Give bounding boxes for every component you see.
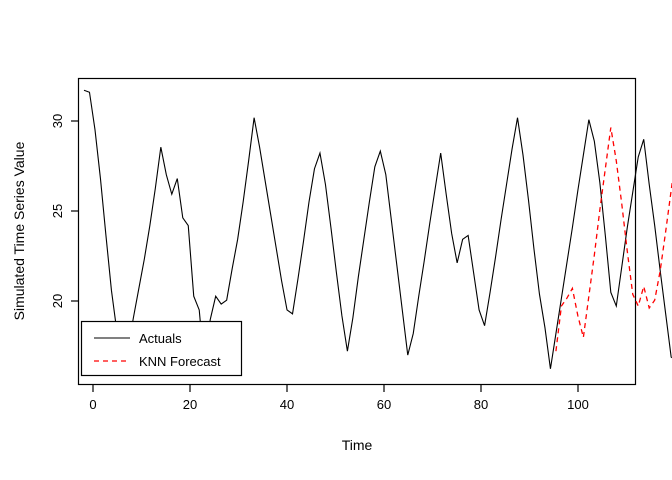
x-tick-label-20: 20 [183,397,197,412]
chart-screenshot: 20 25 30 0 20 40 60 80 100 Time Simulate… [0,0,672,480]
x-tick-label-40: 40 [280,397,294,412]
y-axis-title: Simulated Time Series Value [11,141,27,320]
x-tick-label-100: 100 [567,397,589,412]
y-tick-label-25: 25 [50,204,65,218]
x-axis-title: Time [342,437,373,453]
x-tick-label-0: 0 [89,397,96,412]
time-series-plot: 20 25 30 0 20 40 60 80 100 Time Simulate… [0,0,672,480]
x-tick-label-60: 60 [377,397,391,412]
y-tick-label-20: 20 [50,294,65,308]
legend-label-actuals: Actuals [139,331,182,346]
legend-label-knn-forecast: KNN Forecast [139,354,221,369]
y-tick-label-30: 30 [50,114,65,128]
x-tick-label-80: 80 [474,397,488,412]
legend: Actuals KNN Forecast [82,322,242,376]
